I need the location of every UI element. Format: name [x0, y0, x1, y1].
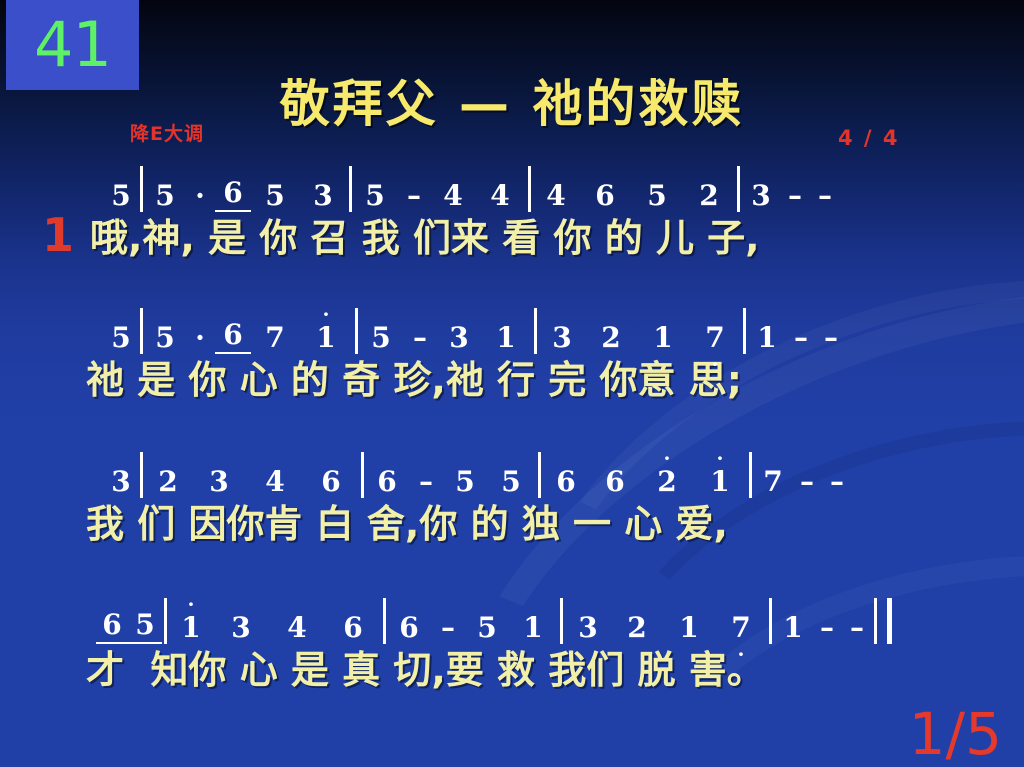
lyric-line-3: 我 们 因你肯 白 舍,你 的 独 一 心 爱,	[0, 498, 1024, 550]
note-6: 6	[589, 466, 641, 498]
note-4: 4	[269, 612, 325, 644]
note-3: 3	[213, 612, 269, 644]
note-6: 6	[215, 177, 251, 212]
note-dot: ·	[185, 180, 215, 212]
octave-up-dot-icon: ·	[693, 455, 747, 461]
note-5: 5	[486, 466, 536, 498]
note-sustain-dash: –	[842, 612, 872, 644]
note-2: 2	[683, 180, 735, 212]
note-5: 5	[360, 322, 402, 354]
note-sustain-dash: –	[816, 322, 846, 354]
note-sustain-dash: –	[780, 180, 810, 212]
note-sustain-dash: –	[396, 180, 432, 212]
barline	[737, 166, 740, 212]
note-7: 7	[251, 322, 299, 354]
barline	[528, 166, 531, 212]
note-6: 6	[325, 612, 381, 644]
note-5: 5	[104, 322, 138, 354]
barline	[140, 452, 143, 498]
barline	[140, 308, 143, 354]
note-sustain-dash: –	[822, 466, 852, 498]
octave-down-dot-icon: ·	[715, 651, 767, 657]
hymn-slide: 41 敬拜父 — 祂的救赎 降E大调 4 / 4 1 55·6535–44465…	[0, 0, 1024, 767]
note-6: 6	[579, 180, 631, 212]
note-2: 2	[585, 322, 637, 354]
note-3: 3	[191, 466, 247, 498]
page-indicator: 1/5	[909, 705, 1002, 763]
lyric-line-4: 才 知你 心 是 真 切,要 救 我们 脱 害。	[0, 644, 1024, 696]
note-6: 6	[303, 466, 359, 498]
note-1: 1	[663, 612, 715, 644]
octave-up-dot-icon: ·	[169, 601, 213, 607]
note-7: 7·	[715, 612, 767, 644]
barline	[349, 166, 352, 212]
barline	[769, 598, 772, 644]
notation-line-1: 55·6535–4446523––	[0, 166, 1024, 212]
note-3: 3	[539, 322, 585, 354]
note-sustain-dash: –	[430, 612, 466, 644]
note-3: 3	[565, 612, 611, 644]
note-5: 5	[444, 466, 486, 498]
note-sustain-dash: –	[810, 180, 840, 212]
note-dot: ·	[185, 322, 215, 354]
note-4: 4	[432, 180, 474, 212]
note-6: 6	[96, 609, 128, 644]
note-1: 1	[480, 322, 532, 354]
note-5: 5	[631, 180, 683, 212]
barline	[140, 166, 143, 212]
note-1: 1	[774, 612, 812, 644]
music-system-4: 651·3466–513217·1–– 才 知你 心 是 真 切,要 救 我们 …	[0, 598, 1024, 696]
note-sustain-dash: –	[812, 612, 842, 644]
note-7: 7	[754, 466, 792, 498]
note-sustain-dash: –	[408, 466, 444, 498]
music-system-1: 55·6535–4446523–– 哦,神, 是 你 召 我 们来 看 你 的 …	[0, 166, 1024, 264]
note-1: 1·	[169, 612, 213, 644]
barline	[534, 308, 537, 354]
note-1: 1	[508, 612, 558, 644]
note-6: 6	[388, 612, 430, 644]
note-2: 2	[145, 466, 191, 498]
notation-line-2: 55·671·5–313217·1––	[0, 308, 1024, 354]
notation-line-4: 651·3466–513217·1––	[0, 598, 1024, 644]
note-7: 7·	[689, 322, 741, 354]
note-1: 1	[748, 322, 786, 354]
note-3: 3	[104, 466, 138, 498]
note-sustain-dash: –	[786, 322, 816, 354]
barline	[538, 452, 541, 498]
time-signature-label: 4 / 4	[838, 126, 900, 150]
note-6: 6	[543, 466, 589, 498]
octave-up-dot-icon: ·	[299, 311, 353, 317]
barline	[560, 598, 563, 644]
music-system-2: 55·671·5–313217·1–– 祂 是 你 心 的 奇 珍,祂 行 完 …	[0, 308, 1024, 406]
note-4: 4	[474, 180, 526, 212]
note-sustain-dash: –	[792, 466, 822, 498]
note-2: 2·	[641, 466, 693, 498]
music-system-3: 323466–55662·1·7–– 我 们 因你肯 白 舍,你 的 独 一 心…	[0, 452, 1024, 550]
note-3: 3	[438, 322, 480, 354]
notation-line-3: 323466–55662·1·7––	[0, 452, 1024, 498]
barline	[743, 308, 746, 354]
note-5: 5	[251, 180, 299, 212]
note-5: 5	[354, 180, 396, 212]
note-4: 4	[247, 466, 303, 498]
note-2: 2	[611, 612, 663, 644]
barline	[749, 452, 752, 498]
octave-down-dot-icon: ·	[689, 361, 741, 367]
note-5: 5	[128, 609, 162, 644]
note-1: 1	[637, 322, 689, 354]
note-4: 4	[533, 180, 579, 212]
lyric-line-1: 哦,神, 是 你 召 我 们来 看 你 的 儿 子,	[0, 212, 1024, 264]
barline	[383, 598, 386, 644]
final-double-barline	[874, 598, 892, 644]
octave-up-dot-icon: ·	[641, 455, 693, 461]
note-1: 1·	[693, 466, 747, 498]
note-3: 3	[299, 180, 347, 212]
note-5: 5	[145, 180, 185, 212]
barline	[355, 308, 358, 354]
note-1: 1·	[299, 322, 353, 354]
note-5: 5	[104, 180, 138, 212]
note-5: 5	[466, 612, 508, 644]
barline	[164, 598, 167, 644]
key-signature-label: 降E大调	[130, 119, 204, 146]
lyric-line-2: 祂 是 你 心 的 奇 珍,祂 行 完 你意 思;	[0, 354, 1024, 406]
note-6: 6	[366, 466, 408, 498]
barline	[361, 452, 364, 498]
note-6: 6	[215, 319, 251, 354]
note-5: 5	[145, 322, 185, 354]
note-3: 3	[742, 180, 780, 212]
note-sustain-dash: –	[402, 322, 438, 354]
